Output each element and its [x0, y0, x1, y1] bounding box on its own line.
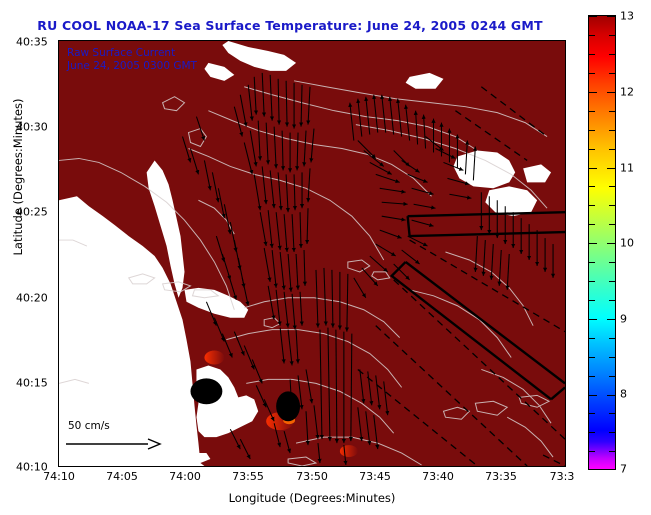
colorbar[interactable] [588, 15, 616, 470]
xtick-5: 73:45 [359, 470, 391, 483]
xtick-3: 73:55 [232, 470, 264, 483]
reference-arrow-icon [64, 434, 168, 454]
xtick-2: 74:00 [169, 470, 201, 483]
xtick-6: 73:40 [422, 470, 454, 483]
cbtick-12: 12 [620, 86, 634, 99]
figure-canvas: RU COOL NOAA-17 Sea Surface Temperature:… [0, 0, 651, 515]
y-axis-label: Latitude (Degrees:Minutes) [11, 67, 25, 287]
xtick-7: 73:35 [485, 470, 517, 483]
ytick-5: 40:10 [16, 461, 48, 474]
figure-title: RU COOL NOAA-17 Sea Surface Temperature:… [0, 18, 580, 33]
vector-scale-key: 50 cm/s [64, 420, 174, 456]
cbtick-10: 10 [620, 237, 634, 250]
current-vector-layer [59, 41, 565, 466]
cbtick-13: 13 [620, 10, 634, 23]
ytick-4: 40:15 [16, 377, 48, 390]
map-plot-area[interactable]: Raw Surface Current June 24, 2005 0300 G… [58, 40, 566, 467]
x-axis-label: Longitude (Degrees:Minutes) [58, 491, 566, 505]
cbtick-11: 11 [620, 162, 634, 175]
cbtick-9: 9 [620, 313, 627, 326]
xtick-4: 73:50 [296, 470, 328, 483]
vector-scale-label: 50 cm/s [68, 420, 110, 432]
ytick-0: 40:35 [16, 36, 48, 49]
xtick-0: 74:10 [43, 470, 75, 483]
cbtick-7: 7 [620, 463, 627, 476]
colorbar-tick-marks [589, 16, 615, 469]
xtick-1: 74:05 [106, 470, 138, 483]
ytick-3: 40:20 [16, 292, 48, 305]
cbtick-8: 8 [620, 388, 627, 401]
xtick-8: 73:3 [550, 470, 575, 483]
